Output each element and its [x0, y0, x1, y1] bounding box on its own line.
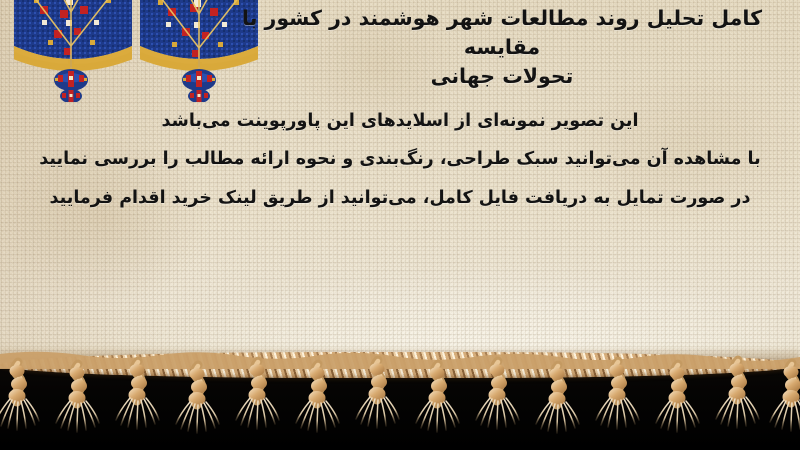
- body-line-2: با مشاهده آن می‌توانید سبک طراحی، رنگ‌بن…: [28, 150, 772, 168]
- slide-title-line-2: تحولات جهانی: [222, 62, 782, 91]
- slide-body-text: این تصویر نمونه‌ای از اسلایدهای این پاور…: [28, 112, 772, 207]
- body-line-3: در صورت تمایل به دریافت فایل کامل، می‌تو…: [28, 189, 772, 207]
- slide-title: کامل تحلیل روند مطالعات شهر هوشمند در کش…: [222, 4, 782, 91]
- carpet-fringe-tassels-icon: [0, 348, 800, 450]
- body-line-1: این تصویر نمونه‌ای از اسلایدهای این پاور…: [28, 112, 772, 130]
- slide-canvas: کامل تحلیل روند مطالعات شهر هوشمند در کش…: [0, 0, 800, 450]
- persian-pendant-medallion-left-icon: [14, 0, 132, 102]
- slide-title-line-1: کامل تحلیل روند مطالعات شهر هوشمند در کش…: [222, 4, 782, 62]
